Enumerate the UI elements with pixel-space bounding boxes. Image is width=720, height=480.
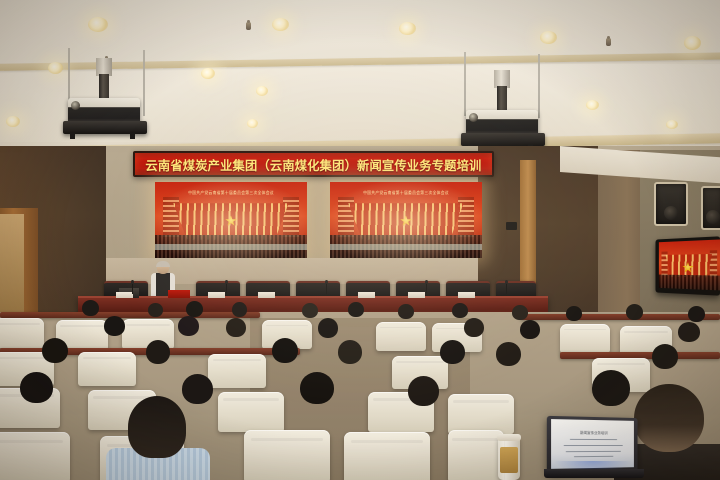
person-head [42,338,68,363]
audience-seat [448,430,504,480]
laptop-document-line [566,451,621,452]
foreground-person-front-row [118,396,198,480]
laptop-document-line [569,439,617,440]
person-head [104,316,125,336]
ceiling-downlight [201,68,215,79]
ceiling-downlight [247,119,258,128]
person-head [302,303,318,318]
wall-mounted-tv [655,236,720,295]
person-head [688,306,705,322]
slide-side-drape [458,197,475,237]
conference-hall-photo: 云南省煤炭产业集团（云南煤化集团）新闻宣传业务专题培训 中国共产党云南省第十届委… [0,0,720,480]
audience-person [626,304,646,328]
screen-reflection-band [155,244,307,251]
table-microphone [506,283,507,294]
person-head [232,302,247,317]
audience-person [226,318,248,344]
slide-left: 中国共产党云南省第十届委员会第三次全体会议 [155,182,307,258]
name-card [358,292,375,298]
person-head [626,304,643,320]
table-microphone [132,283,133,294]
person-head [678,322,700,342]
wall-mounted-device [506,222,517,230]
person-head [440,340,465,364]
table-microphone [426,283,427,294]
person-head [300,372,334,404]
person-head [452,303,468,318]
person-head [82,300,99,316]
ceiling-downlight [586,100,599,110]
name-card [208,292,225,298]
slide-side-drape [338,197,355,237]
red-folder [168,290,190,298]
banner-title: 云南省煤炭产业集团（云南煤化集团）新闻宣传业务专题培训 [145,155,481,174]
sprinkler-head [246,22,251,30]
person-head [592,370,630,406]
audience-seat [344,432,430,480]
person-head [318,318,338,338]
audience-person [300,372,340,418]
audience-person [338,340,366,374]
slide-side-drape [283,197,300,237]
audience-desk [0,312,260,318]
audience-person [146,340,174,374]
audience-person [42,338,72,372]
laptop-keyboard-base[interactable] [544,469,644,478]
audience-person [496,342,524,378]
projector-pole [99,74,109,100]
audience-person [440,340,468,376]
ceiling-downlight [666,120,678,129]
audience-person [82,300,102,322]
tv-screen [659,239,720,290]
audience-person [318,318,340,346]
projector-lens-icon [71,101,80,110]
audience-person [408,376,444,420]
slide-side-drape [163,197,180,237]
audience-seat [376,322,426,351]
person-head [338,340,362,364]
person-head [348,302,364,317]
foreground-laptop[interactable]: 新闻宣传业务培训 [548,417,644,479]
presenter-hair [156,261,170,267]
ceiling-downlight [256,86,268,96]
person-head [178,316,199,336]
person-head [272,338,298,363]
person-head [512,305,528,320]
laptop-document-line [574,456,614,457]
projection-screen-left: 中国共产党云南省第十届委员会第三次全体会议 [155,182,307,258]
person-head [566,306,582,321]
tea-liquid [500,447,518,473]
table-microphone [226,283,227,294]
wall-speaker [654,182,688,226]
name-card [458,292,475,298]
audience-seat [218,392,284,432]
projector-foot [130,132,135,139]
person-head [652,344,678,369]
slide-title-left: 中国共产党云南省第十届委员会第三次全体会议 [159,190,303,196]
projector-lens-icon [469,113,478,122]
person-head [148,303,163,317]
ceiling-downlight [399,22,416,35]
laptop-document-line [563,445,623,446]
audience-seat [560,324,610,353]
person-head [408,376,439,406]
audience-person [272,338,302,374]
table-microphone [326,283,327,294]
left-door[interactable] [0,214,24,318]
slide-side-drape [710,250,717,276]
person-head [186,301,203,317]
ceiling-downlight [540,31,557,44]
sprinkler-head [606,38,611,46]
audience-seat [244,430,330,480]
audience-person [104,316,128,344]
projector-suspension-rod [464,52,466,116]
audience-person [652,344,682,382]
slide-right: 中国共产党云南省第十届委员会第三次全体会议 [330,182,482,258]
glass-tea-cup [498,437,520,480]
projection-screen-right: 中国共产党云南省第十届委员会第三次全体会议 [330,182,482,258]
person-head [146,340,170,364]
audience-person [20,372,58,414]
audience-seat [0,432,70,480]
person-head [496,342,521,366]
projector-suspension-rod [538,54,540,118]
ceiling-downlight [272,18,289,31]
ceiling-downlight [684,36,701,50]
cup-lid [497,434,521,441]
projector-foot [70,132,75,139]
ceiling-downlight [6,116,20,127]
slide-audience [659,274,720,290]
name-card [408,292,425,298]
audience-seat [0,318,44,348]
person-head [520,320,540,339]
name-card [258,292,275,298]
ceiling-downlight [88,17,108,32]
audience-person [348,302,366,324]
person-head [20,372,53,403]
person-head [464,318,484,337]
person-head [634,384,704,452]
person-head [398,304,414,319]
audience-seat [78,352,136,386]
projector-pole [497,86,507,112]
person-hair [128,396,186,458]
name-card [116,292,133,298]
audience-person [178,316,202,344]
projector-suspension-rod [143,50,145,116]
audience-seat [448,394,514,434]
tv-slide [659,239,720,290]
slide-side-drape [662,251,668,275]
wall-speaker [701,186,720,230]
slide-title-right: 中国共产党云南省第十届委员会第三次全体会议 [334,190,478,196]
stage-banner: 云南省煤炭产业集团（云南煤化集团）新闻宣传业务专题培训 [133,151,494,177]
person-head [226,318,246,337]
laptop-document-title: 新闻宣传业务培训 [551,430,634,436]
screen-reflection-band [330,244,482,251]
ceiling-downlight [48,62,63,74]
